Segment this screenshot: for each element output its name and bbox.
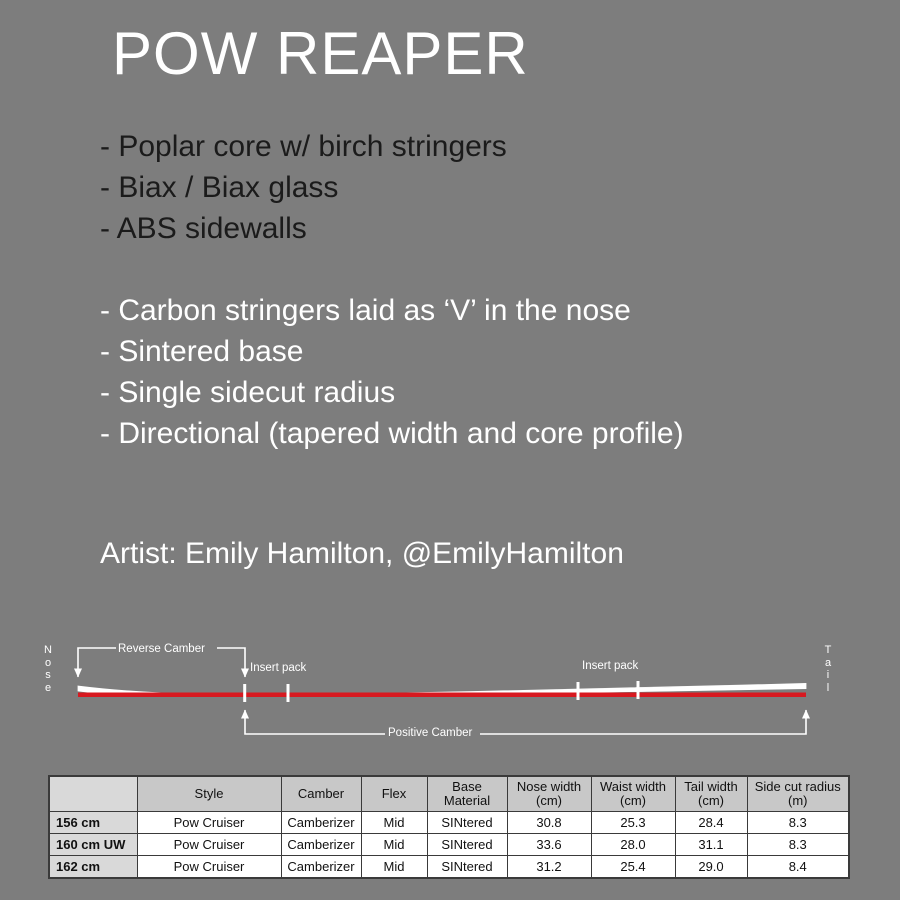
features-bullet-list: - Carbon stringers laid as ‘V’ in the no… (100, 290, 684, 454)
cell-style: Pow Cruiser (137, 834, 281, 856)
cell-flex: Mid (361, 812, 427, 834)
insert-pack-1-tick-left (243, 684, 246, 702)
table-row: 162 cm Pow Cruiser Camberizer Mid SINter… (49, 856, 849, 879)
page-title: POW REAPER (112, 18, 529, 90)
cell-base: SINtered (427, 812, 507, 834)
cell-waist-width: 28.0 (591, 834, 675, 856)
camber-profile-diagram: N o s e T a i l (0, 630, 900, 750)
cell-nose-width: 30.8 (507, 812, 591, 834)
cell-flex: Mid (361, 834, 427, 856)
column-header-line2: (cm) (510, 794, 589, 808)
spec-table-container: Style Camber Flex Base Material (48, 775, 840, 879)
column-header-base-material: Base Material (427, 776, 507, 812)
column-header-line1: Waist width (594, 780, 673, 794)
cell-flex: Mid (361, 856, 427, 879)
cell-style: Pow Cruiser (137, 856, 281, 879)
insert-pack-2-tick-left (577, 682, 580, 700)
reverse-camber-label: Reverse Camber (118, 642, 205, 656)
cell-camber: Camberizer (281, 856, 361, 879)
cell-tail-width: 28.4 (675, 812, 747, 834)
baseline-reference-line (78, 693, 806, 698)
column-header-line2: (cm) (678, 794, 745, 808)
cell-side-cut: 8.3 (747, 812, 849, 834)
construction-bullet-list: - Poplar core w/ birch stringers - Biax … (100, 126, 507, 249)
insert-pack-1-tick-right (287, 684, 290, 702)
column-header-line2: (cm) (594, 794, 673, 808)
cell-tail-width: 29.0 (675, 856, 747, 879)
cell-camber: Camberizer (281, 834, 361, 856)
positive-camber-leader-right (480, 710, 806, 734)
column-header-line1: Nose width (510, 780, 589, 794)
cell-side-cut: 8.3 (747, 834, 849, 856)
column-header-side-cut-radius: Side cut radius (m) (747, 776, 849, 812)
list-item: - Sintered base (100, 331, 684, 372)
cell-base: SINtered (427, 856, 507, 879)
column-header-line1: Side cut radius (750, 780, 847, 794)
column-header-tail-width: Tail width (cm) (675, 776, 747, 812)
insert-pack-1-label: Insert pack (250, 661, 306, 675)
column-header-style: Style (137, 776, 281, 812)
row-header-size: 156 cm (49, 812, 137, 834)
positive-camber-label: Positive Camber (388, 726, 472, 740)
cell-base: SINtered (427, 834, 507, 856)
reverse-camber-leader-left (78, 648, 116, 677)
list-item: - Directional (tapered width and core pr… (100, 413, 684, 454)
column-header-waist-width: Waist width (cm) (591, 776, 675, 812)
artist-credit: Artist: Emily Hamilton, @EmilyHamilton (100, 534, 624, 574)
list-item: - Poplar core w/ birch stringers (100, 126, 507, 167)
column-header-line2: (m) (750, 794, 847, 808)
reverse-camber-leader-right (217, 648, 245, 677)
cell-side-cut: 8.4 (747, 856, 849, 879)
cell-waist-width: 25.4 (591, 856, 675, 879)
table-header-row: Style Camber Flex Base Material (49, 776, 849, 812)
cell-nose-width: 33.6 (507, 834, 591, 856)
column-header-flex: Flex (361, 776, 427, 812)
list-item: - ABS sidewalls (100, 208, 507, 249)
table-row: 160 cm UW Pow Cruiser Camberizer Mid SIN… (49, 834, 849, 856)
column-header-line1: Flex (364, 787, 425, 801)
cell-camber: Camberizer (281, 812, 361, 834)
list-item: - Carbon stringers laid as ‘V’ in the no… (100, 290, 684, 331)
row-header-size: 160 cm UW (49, 834, 137, 856)
table-row: 156 cm Pow Cruiser Camberizer Mid SINter… (49, 812, 849, 834)
column-header-line1: Style (140, 787, 279, 801)
column-header-line2: Material (430, 794, 505, 808)
insert-pack-2-tick-right (637, 681, 640, 699)
insert-pack-2-label: Insert pack (582, 659, 638, 673)
row-header-size: 162 cm (49, 856, 137, 879)
column-header-camber: Camber (281, 776, 361, 812)
spec-table: Style Camber Flex Base Material (48, 775, 850, 879)
positive-camber-leader-left (245, 710, 385, 734)
column-header-nose-width: Nose width (cm) (507, 776, 591, 812)
column-header-line1: Tail width (678, 780, 745, 794)
list-item: - Single sidecut radius (100, 372, 684, 413)
column-header-line1: Base (430, 780, 505, 794)
cell-nose-width: 31.2 (507, 856, 591, 879)
column-header-line1: Camber (284, 787, 359, 801)
cell-waist-width: 25.3 (591, 812, 675, 834)
slide-canvas: POW REAPER - Poplar core w/ birch string… (0, 0, 900, 900)
cell-style: Pow Cruiser (137, 812, 281, 834)
cell-tail-width: 31.1 (675, 834, 747, 856)
list-item: - Biax / Biax glass (100, 167, 507, 208)
table-corner-cell (49, 776, 137, 812)
